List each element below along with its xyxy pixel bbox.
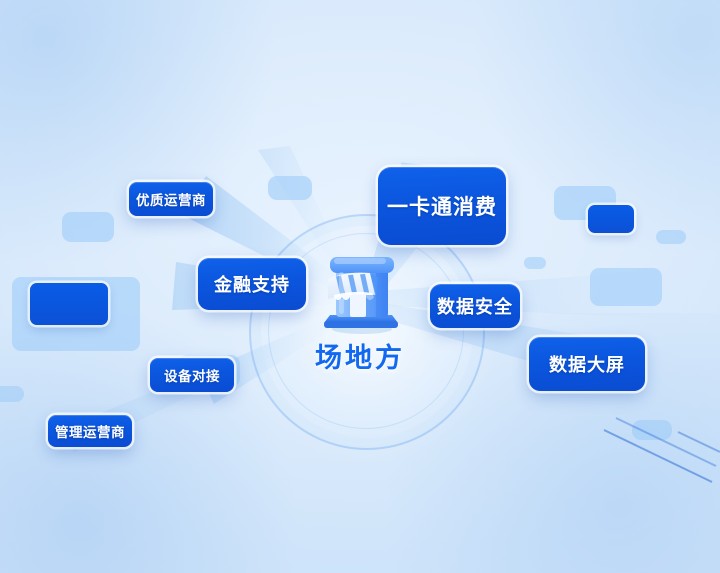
decor-rect-1 (62, 212, 114, 242)
decor-rect-7 (656, 230, 686, 244)
storefront-icon (314, 245, 408, 335)
decor-rect-9 (590, 268, 662, 306)
decor-rect-8 (524, 257, 546, 269)
node-label: 金融支持 (214, 271, 290, 297)
node-shuju-anquan[interactable]: 数据安全 (430, 284, 520, 328)
node-jinrong-zhichi[interactable]: 金融支持 (198, 258, 306, 310)
node-label: 设备对接 (164, 365, 220, 385)
node-label: 数据大屏 (549, 351, 625, 377)
decor-rect-5 (0, 386, 24, 402)
node-youzhi-yunyingshang[interactable]: 优质运营商 (129, 182, 213, 216)
decor-rect-10 (632, 420, 672, 440)
node-shuju-dapingmu[interactable]: 数据大屏 (529, 337, 645, 391)
decor-rect-solid-left (30, 283, 108, 325)
decor-rect-6 (554, 186, 616, 220)
node-label: 数据安全 (437, 293, 513, 319)
decor-rect-solid-right (588, 205, 634, 233)
node-label: 优质运营商 (136, 189, 206, 209)
node-label: 一卡通消费 (387, 191, 497, 221)
node-yikatong-xiaofei[interactable]: 一卡通消费 (378, 167, 506, 245)
node-guanli-yunyingshang[interactable]: 管理运营商 (48, 415, 132, 447)
corner-glow-top-left (0, 0, 300, 260)
node-shebei-duijie[interactable]: 设备对接 (150, 358, 234, 392)
node-label: 管理运营商 (55, 421, 125, 441)
infographic-canvas: 场地方 一卡通消费 金融支持 数据大屏 数据安全 优质运营商 设备对接 管理运营… (0, 0, 720, 573)
decor-rect-2 (268, 176, 312, 200)
